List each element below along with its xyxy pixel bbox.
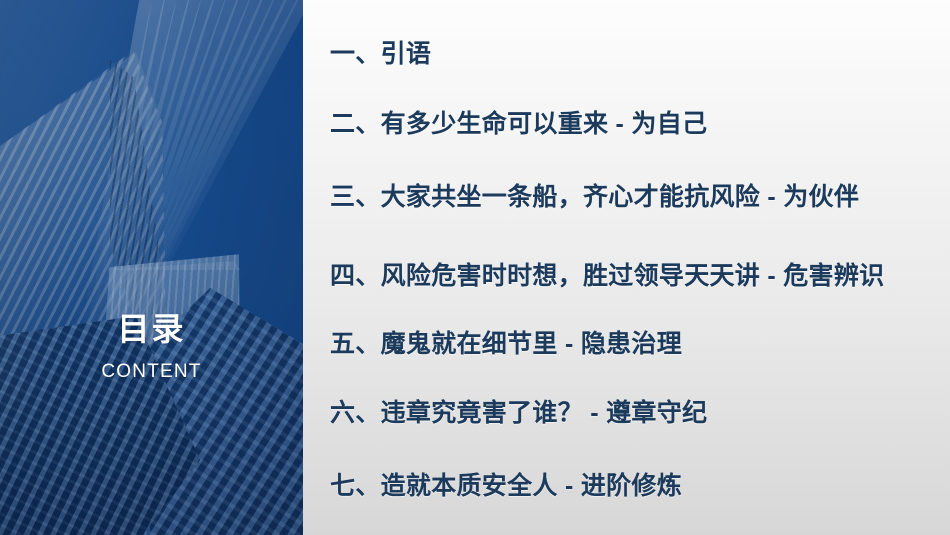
left-photo-panel: 目录 CONTENT [0, 0, 303, 535]
toc-item-5[interactable]: 五、魔鬼就在细节里 - 隐患治理 [330, 328, 942, 361]
slide-root: 目录 CONTENT 一、引语 二、有多少生命可以重来 - 为自己 三、大家共坐… [0, 0, 950, 535]
page-subtitle: CONTENT [0, 361, 303, 383]
page-title: 目录 [0, 312, 303, 347]
toc-item-2[interactable]: 二、有多少生命可以重来 - 为自己 [330, 108, 942, 141]
toc-item-4[interactable]: 四、风险危害时时想，胜过领导天天讲 - 危害辨识 [330, 260, 942, 293]
skyscraper-photo [0, 0, 303, 535]
toc-item-1[interactable]: 一、引语 [330, 38, 942, 71]
toc-item-7[interactable]: 七、造就本质安全人 - 进阶修炼 [330, 470, 942, 503]
contents-panel: 一、引语 二、有多少生命可以重来 - 为自己 三、大家共坐一条船，齐心才能抗风险… [303, 0, 950, 535]
photo-sheen [0, 0, 303, 535]
toc-item-3[interactable]: 三、大家共坐一条船，齐心才能抗风险 - 为伙伴 [330, 181, 942, 214]
title-block: 目录 CONTENT [0, 312, 303, 383]
contents-list: 一、引语 二、有多少生命可以重来 - 为自己 三、大家共坐一条船，齐心才能抗风险… [330, 0, 942, 535]
toc-item-6[interactable]: 六、违章究竟害了谁？ - 遵章守纪 [330, 397, 942, 430]
